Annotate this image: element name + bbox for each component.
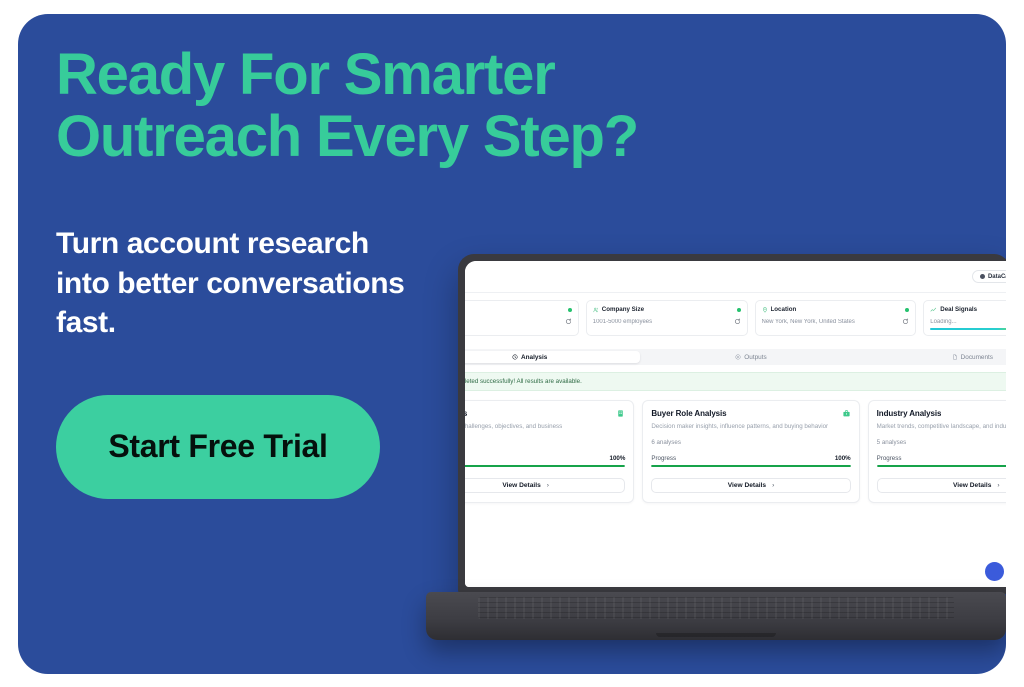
info-card-value: New York, New York, United States	[762, 319, 900, 325]
info-card-industry: stry ing	[465, 300, 579, 336]
view-details-label: View Details	[728, 482, 766, 489]
info-card-label: Company Size	[602, 306, 644, 313]
analysis-card-count: 5 analyses	[877, 439, 1006, 446]
analysis-card-title: Industry Analysis	[877, 409, 942, 418]
info-card-label: Deal Signals	[940, 306, 977, 313]
view-details-button[interactable]: View Details ›	[465, 478, 625, 493]
copy-column: Ready For Smarter Outreach Every Step? T…	[56, 44, 476, 499]
start-free-trial-button[interactable]: Start Free Trial	[56, 395, 380, 499]
info-card-header: Deal Signals	[930, 306, 1006, 313]
progress-track	[465, 465, 625, 468]
analysis-card-title: nt Analysis	[465, 409, 467, 418]
info-card-company-size: Company Size 1001-5000 employees	[586, 300, 748, 336]
laptop-keyboard	[478, 597, 954, 619]
info-card-body: ing	[465, 318, 572, 325]
chevron-right-icon: ›	[547, 482, 549, 489]
analysis-card-count: 6 analyses	[651, 439, 850, 446]
progress-fill	[877, 465, 1006, 468]
tab-label: Analysis	[521, 354, 547, 361]
tab-label: Documents	[961, 354, 993, 361]
document-icon	[952, 354, 958, 360]
chevron-right-icon: ›	[997, 482, 999, 489]
status-dot-icon	[737, 308, 741, 312]
info-card-location: Location New York, New York, United Stat…	[755, 300, 917, 336]
pin-icon	[762, 307, 768, 313]
progress-fill	[651, 465, 850, 468]
progress-track	[877, 465, 1006, 468]
clock-icon	[512, 354, 518, 360]
headline-line-1: Ready For Smarter	[56, 44, 476, 106]
analysis-card-header: nt Analysis	[465, 409, 625, 418]
info-card-value: ing	[465, 319, 562, 325]
laptop-notch	[656, 633, 776, 637]
analysis-card-count: ses	[465, 439, 625, 446]
info-card-strip: stry ing Company Size	[465, 293, 1006, 345]
view-details-button[interactable]: View Details ›	[877, 478, 1006, 493]
analysis-card-description: ny overview, challenges, objectives, and…	[465, 423, 625, 432]
globe-icon	[980, 274, 985, 279]
laptop-base	[426, 592, 1006, 640]
info-card-header: Location	[762, 306, 910, 313]
view-details-label: View Details	[953, 482, 991, 489]
page-title: Ready For Smarter Outreach Every Step?	[56, 44, 476, 168]
analysis-card-grid: nt Analysis ny overview, challenges, obj…	[465, 391, 1006, 503]
laptop-lid: verview DataCamp Account Upd	[458, 254, 1006, 594]
people-icon	[593, 307, 599, 313]
info-card-value: Loading...	[930, 319, 1006, 325]
info-card-header: stry	[465, 306, 572, 313]
analysis-card-buyer-role: Buyer Role Analysis Decision maker insig…	[642, 400, 859, 503]
status-dot-icon	[905, 308, 909, 312]
info-card-value: 1001-5000 employees	[593, 319, 731, 325]
tab-analysis[interactable]: Analysis	[465, 351, 640, 363]
brand-badge-label: DataCamp	[988, 274, 1006, 280]
analysis-card-description: Market trends, competitive landscape, an…	[877, 423, 1006, 432]
laptop-mockup: verview DataCamp Account Upd	[426, 254, 1006, 654]
analysis-card-header: Industry Analysis	[877, 409, 1006, 418]
progress-value: 100%	[835, 455, 851, 462]
deal-signal-progress-bar	[930, 328, 1006, 330]
view-details-label: View Details	[502, 482, 540, 489]
info-card-deal-signals: Deal Signals Loading...	[923, 300, 1006, 336]
analysis-card-progress-row: Progress 100%	[651, 455, 850, 462]
headline-line-2: Outreach Every Step?	[56, 106, 476, 168]
tab-outputs[interactable]: Outputs	[640, 351, 861, 363]
refresh-icon[interactable]	[565, 318, 572, 325]
info-card-body: Loading...	[930, 318, 1006, 325]
header-actions: DataCamp Account Upd	[972, 270, 1006, 283]
progress-value: 100%	[610, 455, 626, 462]
tab-documents[interactable]: Documents	[862, 351, 1006, 363]
tab-label: Outputs	[744, 354, 766, 361]
chat-bubble-icon[interactable]	[985, 562, 1004, 581]
cta-banner-card: Ready For Smarter Outreach Every Step? T…	[18, 14, 1006, 674]
analysis-card-progress-row: Progress	[877, 455, 1006, 462]
view-details-button[interactable]: View Details ›	[651, 478, 850, 493]
app-header: verview DataCamp Account Upd	[465, 261, 1006, 293]
analysis-card-header: Buyer Role Analysis	[651, 409, 850, 418]
briefcase-icon	[842, 409, 851, 418]
analysis-card-progress-row: s 100%	[465, 455, 625, 462]
subheadline: Turn account research into better conver…	[56, 224, 416, 343]
brand-badge[interactable]: DataCamp	[972, 270, 1006, 283]
analysis-card-industry: Industry Analysis Market trends, competi…	[868, 400, 1006, 503]
progress-fill	[465, 465, 625, 468]
info-card-label: Location	[771, 306, 797, 313]
info-card-body: New York, New York, United States	[762, 318, 910, 325]
trend-icon	[930, 307, 937, 313]
status-dot-icon	[568, 308, 572, 312]
info-card-body: 1001-5000 employees	[593, 318, 741, 325]
chevron-right-icon: ›	[772, 482, 774, 489]
analysis-card-description: Decision maker insights, influence patte…	[651, 423, 850, 432]
tab-bar: Analysis Outputs Documents	[465, 349, 1006, 365]
refresh-icon[interactable]	[902, 318, 909, 325]
target-icon	[735, 354, 741, 360]
progress-label: Progress	[651, 455, 676, 462]
info-card-header: Company Size	[593, 306, 741, 313]
progress-label: Progress	[877, 455, 902, 462]
status-banner: Analysis completed successfully! All res…	[465, 372, 1006, 391]
progress-track	[651, 465, 850, 468]
laptop-screen: verview DataCamp Account Upd	[465, 261, 1006, 587]
analysis-card-account: nt Analysis ny overview, challenges, obj…	[465, 400, 634, 503]
app-viewport: verview DataCamp Account Upd	[465, 261, 1006, 587]
refresh-icon[interactable]	[734, 318, 741, 325]
building-icon	[616, 409, 625, 418]
analysis-card-title: Buyer Role Analysis	[651, 409, 726, 418]
